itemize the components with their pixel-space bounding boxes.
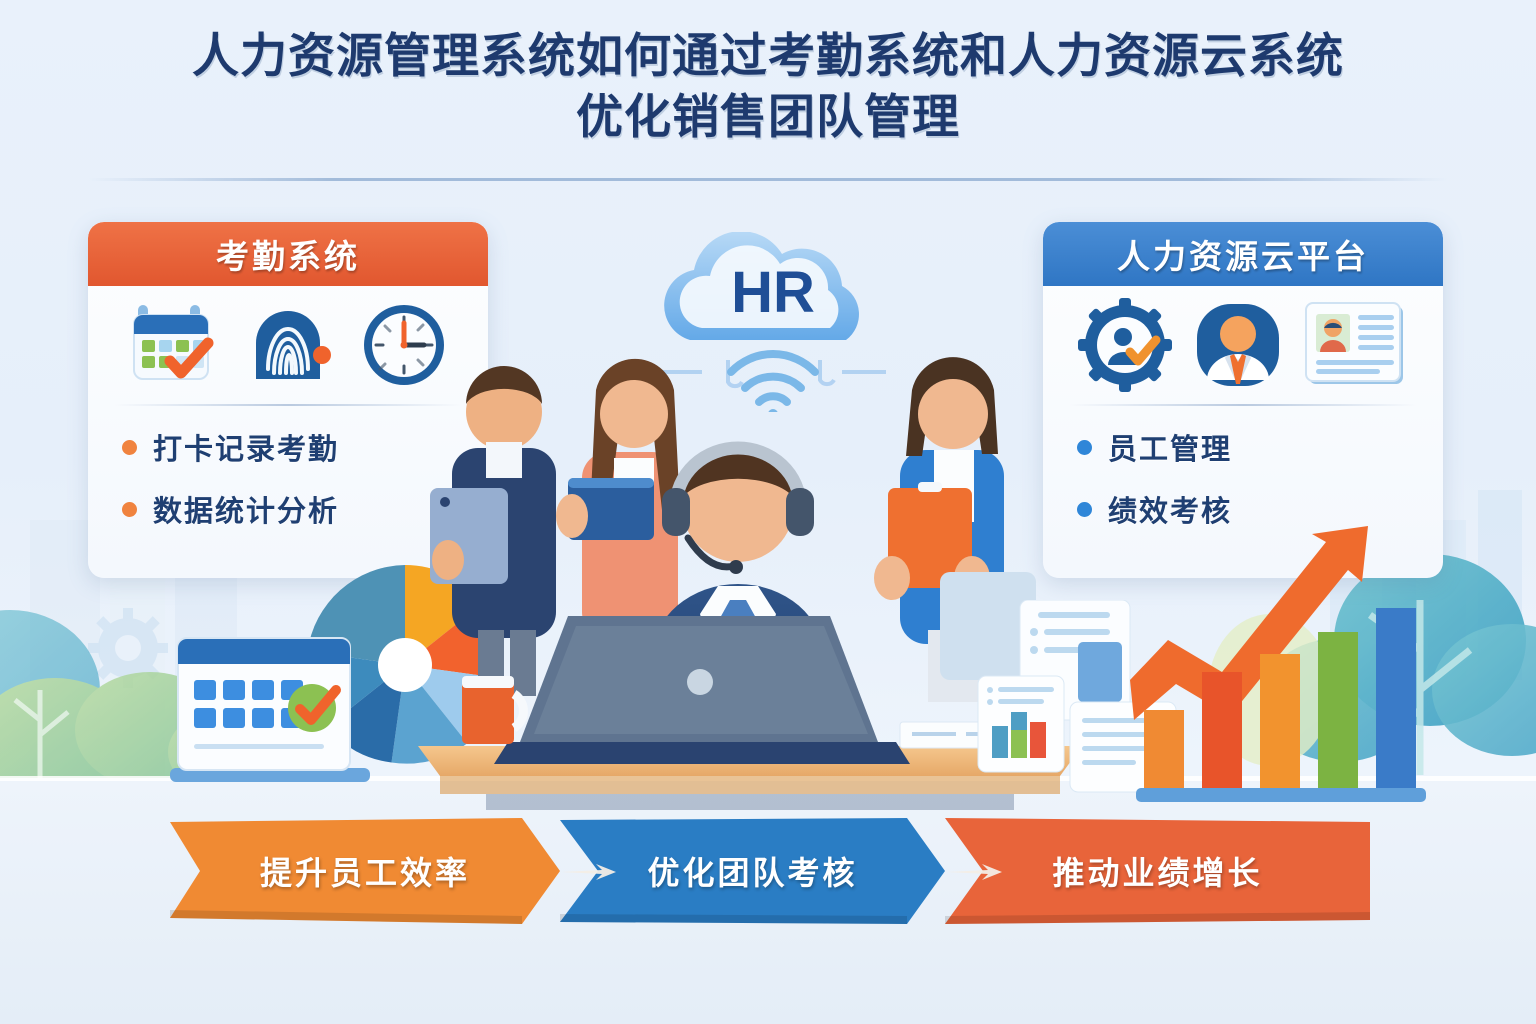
banner-shape-orange	[170, 818, 560, 924]
list-item-label: 打卡记录考勤	[153, 426, 339, 468]
outcome-banner-row: 提升员工效率 优化团队考核 推动业绩增长	[170, 818, 1370, 924]
hr-platform-panel-title: 人力资源云平台	[1117, 230, 1369, 278]
calendar-check-icon	[126, 299, 218, 391]
page-title: 人力资源管理系统如何通过考勤系统和人力资源云系统 优化销售团队管理	[0, 28, 1536, 145]
arrow-connector-2	[948, 862, 1004, 882]
attendance-panel-title: 考勤系统	[216, 230, 360, 278]
fingerprint-scanner-icon	[242, 299, 334, 391]
laptop-icon	[494, 616, 910, 764]
blue-tile	[1078, 642, 1122, 702]
bullet-dot-icon	[122, 502, 137, 517]
bar-chart-with-trend	[1130, 520, 1530, 820]
chart-baseline	[1136, 788, 1426, 802]
hr-platform-bullet-list: 员工管理 绩效考核	[1043, 406, 1443, 530]
attendance-panel-header: 考勤系统	[88, 222, 488, 286]
title-line-2: 优化销售团队管理	[0, 89, 1536, 144]
calendar-card-graphic	[160, 620, 390, 800]
list-item-label: 数据统计分析	[153, 488, 339, 530]
hr-cloud-label: HR	[731, 260, 815, 325]
arrow-connector-1	[562, 862, 618, 882]
bullet-dot-icon	[122, 440, 137, 455]
bar	[1376, 608, 1416, 788]
bar	[1202, 672, 1242, 788]
hr-platform-icon-row	[1043, 286, 1443, 404]
mini-bar-chart-card	[978, 676, 1064, 772]
title-line-1: 人力资源管理系统如何通过考勤系统和人力资源云系统	[0, 28, 1536, 83]
employee-avatar-icon	[1191, 298, 1285, 392]
list-item-label: 员工管理	[1108, 426, 1232, 468]
businessman-with-tablet	[430, 366, 556, 696]
list-item[interactable]: 员工管理	[1077, 426, 1443, 468]
bar	[1318, 632, 1358, 788]
outcome-banner-3[interactable]: 推动业绩增长	[945, 818, 1370, 924]
banner-shape-orange-2	[945, 818, 1370, 924]
bar	[1260, 654, 1300, 788]
hr-platform-panel-header: 人力资源云平台	[1043, 222, 1443, 286]
title-divider	[88, 178, 1448, 181]
bar	[1144, 710, 1184, 788]
outcome-banner-1[interactable]: 提升员工效率	[170, 818, 560, 924]
id-card-icon	[1304, 300, 1408, 390]
